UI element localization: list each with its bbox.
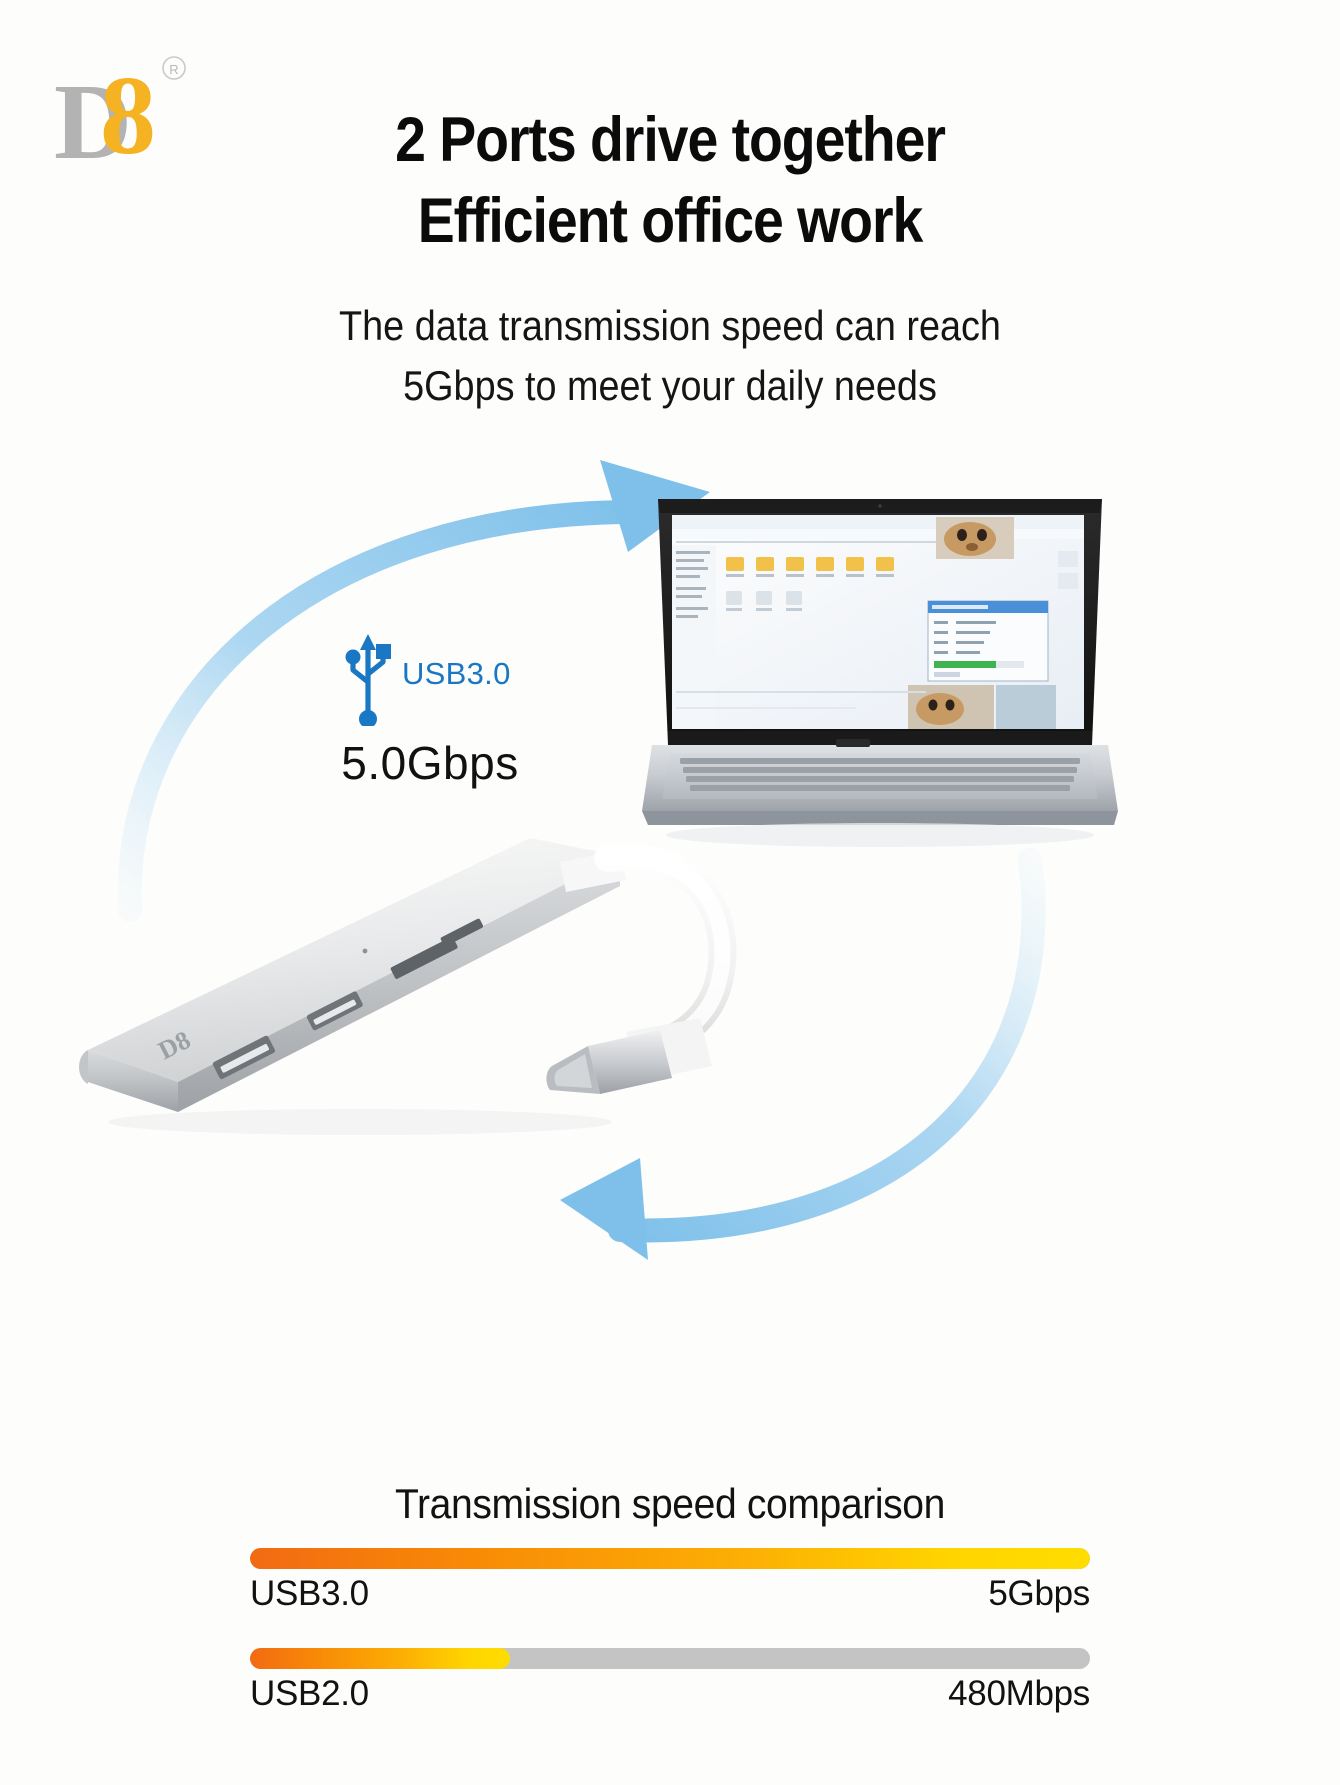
subtitle-line-2: 5Gbps to meet your daily needs bbox=[243, 356, 1098, 416]
comparison-row-usb2: USB2.0 480Mbps bbox=[250, 1648, 1090, 1714]
usb3-bar-fill bbox=[250, 1548, 1090, 1569]
hub-led-indicator bbox=[363, 949, 368, 954]
usb-c-connector bbox=[546, 1018, 712, 1094]
usb2-bar-fill bbox=[250, 1648, 510, 1669]
logo-digit-8: 8 bbox=[100, 54, 156, 178]
usb-trident-icon bbox=[340, 630, 396, 726]
usb2-bar-track bbox=[250, 1648, 1090, 1669]
row-spacer bbox=[250, 1626, 1090, 1648]
usb2-bar-labels: USB2.0 480Mbps bbox=[250, 1674, 1090, 1714]
headline-line-1: 2 Ports drive together bbox=[395, 105, 945, 175]
laptop-brand-plate bbox=[836, 739, 870, 747]
speed-value-label: 5.0Gbps bbox=[300, 736, 560, 790]
screen-photo-thumb-top bbox=[936, 517, 1014, 559]
page-subtitle: The data transmission speed can reach 5G… bbox=[243, 296, 1098, 415]
usb3-bar-track bbox=[250, 1548, 1090, 1569]
comparison-row-usb3: USB3.0 5Gbps bbox=[250, 1548, 1090, 1614]
usb-c-hub-device: D8 bbox=[60, 820, 780, 1150]
infographic-page: D 8 R 2 Ports drive together Efficient o… bbox=[0, 0, 1340, 1785]
screen-progress-bar bbox=[934, 661, 996, 668]
usb3-bar-labels: USB3.0 5Gbps bbox=[250, 1574, 1090, 1614]
registered-mark-letter: R bbox=[169, 62, 178, 77]
usb-arrow-tip bbox=[360, 634, 376, 650]
headline-line-2: Efficient office work bbox=[230, 181, 1110, 262]
usb3-badge-label: USB3.0 bbox=[402, 656, 511, 692]
speed-comparison-section: Transmission speed comparison USB3.0 5Gb… bbox=[250, 1480, 1090, 1726]
usb3-badge: USB3.0 bbox=[340, 640, 640, 700]
comparison-title: Transmission speed comparison bbox=[279, 1480, 1060, 1528]
brand-logo-svg: D 8 R bbox=[52, 48, 232, 178]
subtitle-line-1: The data transmission speed can reach bbox=[339, 302, 1001, 349]
arrow-head-down bbox=[560, 1158, 648, 1260]
usb3-bar-value: 5Gbps bbox=[988, 1574, 1090, 1614]
connection-diagram: USB3.0 5.0Gbps bbox=[0, 440, 1340, 1340]
usb-square-end bbox=[376, 644, 391, 659]
laptop-device bbox=[640, 495, 1120, 875]
screen-photo-thumb-bottom bbox=[908, 685, 1056, 729]
hub-rounded-end bbox=[79, 1050, 88, 1084]
screen-copy-dialog bbox=[928, 601, 1048, 681]
usb2-bar-value: 480Mbps bbox=[948, 1674, 1090, 1714]
brand-logo: D 8 R bbox=[52, 48, 232, 178]
usb2-bar-name: USB2.0 bbox=[250, 1674, 369, 1714]
connector-metal-shell bbox=[588, 1030, 672, 1094]
usb-base-dot bbox=[359, 710, 377, 726]
laptop-webcam-icon bbox=[878, 504, 882, 508]
hub-shadow bbox=[108, 1109, 612, 1135]
page-title: 2 Ports drive together Efficient office … bbox=[230, 100, 1110, 261]
usb-circle-end bbox=[346, 650, 361, 665]
usb3-bar-name: USB3.0 bbox=[250, 1574, 369, 1614]
